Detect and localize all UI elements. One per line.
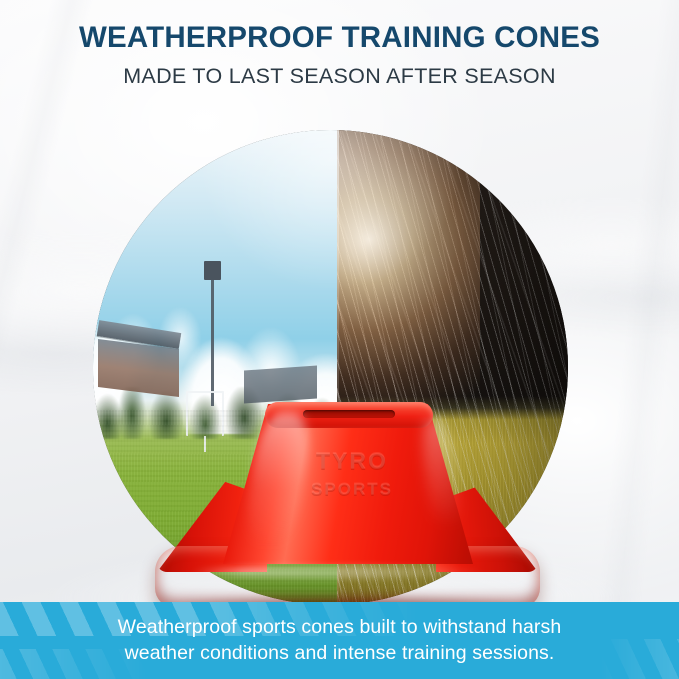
banner-caption: Weatherproof sports cones built to withs… <box>0 615 679 666</box>
floodlight-head <box>204 261 221 280</box>
product-marketing-image: WEATHERPROOF TRAINING CONES MADE TO LAST… <box>0 0 679 679</box>
floodlight-pole <box>211 273 214 406</box>
bleacher-stand-left <box>98 339 179 396</box>
banner-caption-line-2: weather conditions and intense training … <box>40 641 639 667</box>
banner-caption-line-1: Weatherproof sports cones built to withs… <box>40 615 639 641</box>
cone-base-highlight <box>189 566 489 578</box>
bleacher-stand-right <box>244 365 317 403</box>
training-cone: TYRO SPORTS <box>155 404 540 608</box>
bottom-banner: Weatherproof sports cones built to withs… <box>0 602 679 679</box>
cone-top-slot <box>303 410 395 418</box>
header-block: WEATHERPROOF TRAINING CONES MADE TO LAST… <box>0 21 679 90</box>
page-subtitle: MADE TO LAST SEASON AFTER SEASON <box>0 64 679 90</box>
page-title: WEATHERPROOF TRAINING CONES <box>0 21 679 56</box>
